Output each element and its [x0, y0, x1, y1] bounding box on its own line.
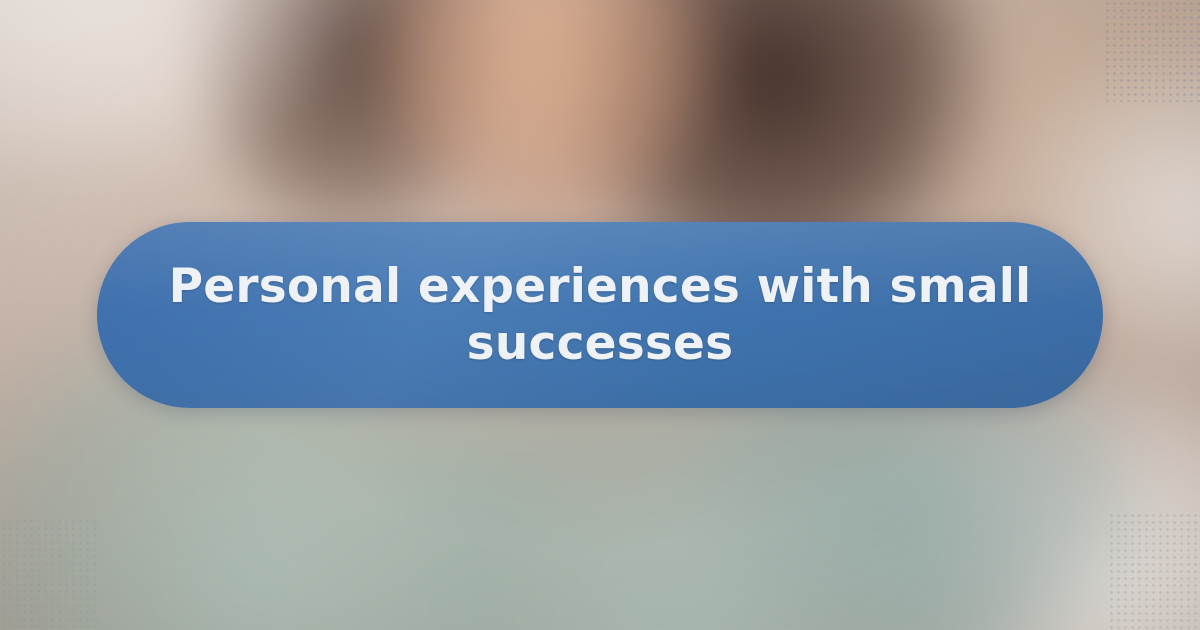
poster-canvas: Personal experiences with small successe… [0, 0, 1200, 630]
banner-title-text: Personal experiences with small successe… [97, 258, 1103, 373]
title-banner: Personal experiences with small successe… [97, 222, 1103, 408]
